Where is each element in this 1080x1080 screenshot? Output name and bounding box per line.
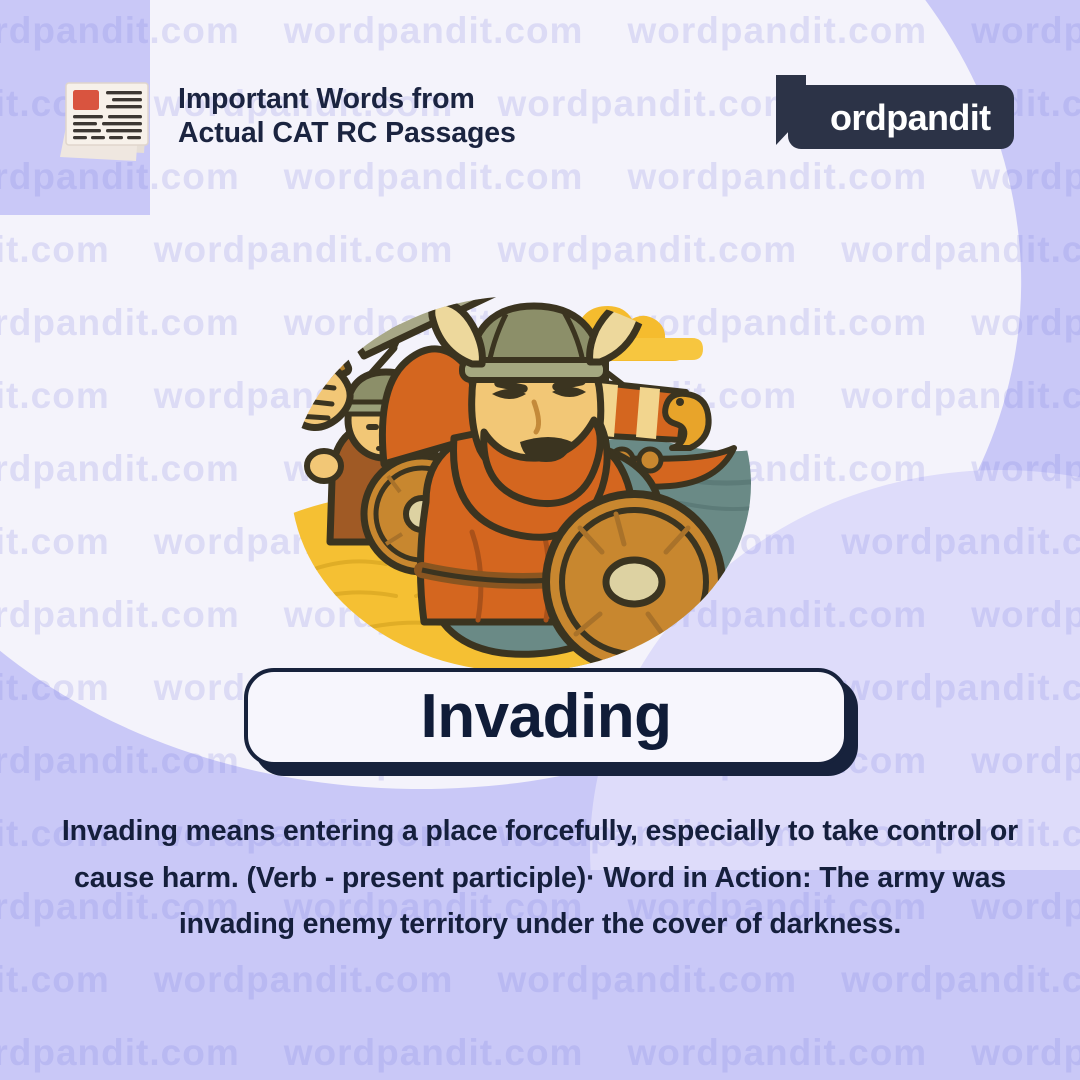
header-left-group: Important Words from Actual CAT RC Passa… (52, 65, 516, 169)
word-title: Invading (421, 686, 672, 748)
newspaper-icon (52, 65, 164, 169)
logo-text: ordpandit (830, 97, 991, 139)
watermark-text: wordpandit.com (971, 10, 1080, 51)
word-card-page: wordpandit.comwordpandit.comwordpandit.c… (0, 0, 1080, 1080)
definition-text: Invading means entering a place forceful… (40, 808, 1040, 948)
word-card-face: Invading (244, 668, 848, 766)
header: Important Words from Actual CAT RC Passa… (0, 62, 1080, 172)
page-title: Important Words from Actual CAT RC Passa… (178, 83, 516, 150)
word-card: Invading (244, 668, 858, 776)
viking-invasion-illustration (276, 252, 766, 672)
wordpandit-logo[interactable]: ordpandit (772, 71, 1022, 163)
